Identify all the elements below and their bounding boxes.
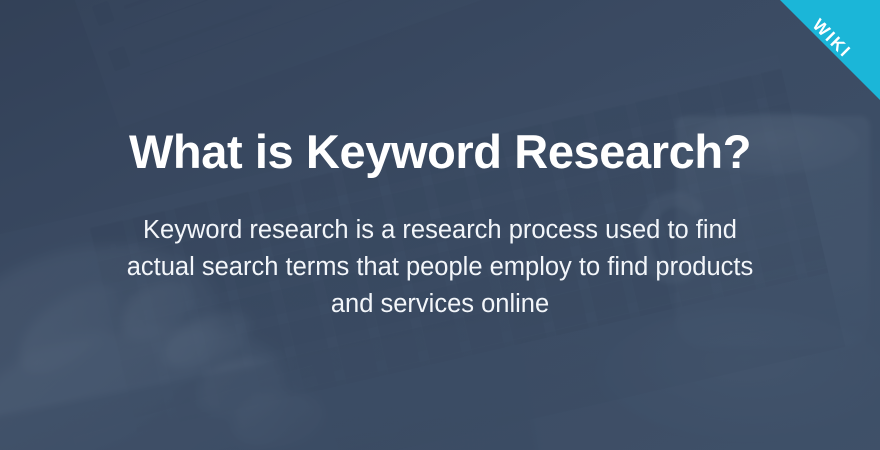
wiki-hero-card: WIKI What is Keyword Research? Keyword r… xyxy=(0,0,880,450)
subtitle-line: and services online xyxy=(331,290,549,318)
subtitle-line: actual search terms that people employ t… xyxy=(127,253,754,281)
page-subtitle: Keyword research is a research process u… xyxy=(127,212,754,323)
subtitle-line: Keyword research is a research process u… xyxy=(143,216,737,244)
card-content: What is Keyword Research? Keyword resear… xyxy=(0,0,880,450)
page-title: What is Keyword Research? xyxy=(129,127,751,178)
